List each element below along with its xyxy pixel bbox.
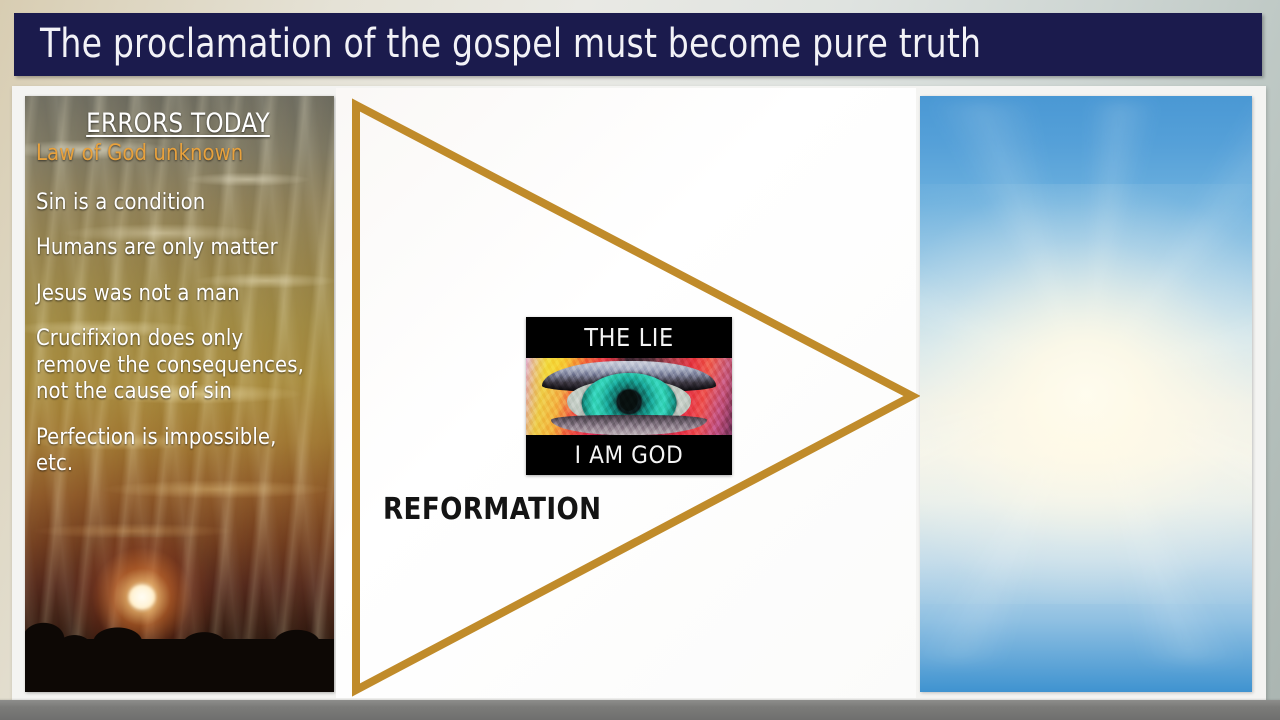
bright-sky-panel: [920, 96, 1252, 692]
reformation-label: REFORMATION: [383, 492, 601, 527]
the-lie-top-caption: THE LIE: [526, 317, 732, 358]
error-item-sin-is-a-condition: Sin is a condition: [36, 189, 311, 216]
error-item-jesus-was-not-a-man: Jesus was not a man: [36, 280, 311, 307]
radiant-light-glow: [920, 184, 1252, 604]
error-item-law-of-god-unknown: Law of God unknown: [36, 140, 311, 167]
page-title: The proclamation of the gospel must beco…: [40, 21, 981, 67]
errors-today-heading: ERRORS TODAY: [43, 108, 313, 139]
slide-title-bar: The proclamation of the gospel must beco…: [14, 13, 1262, 76]
eye-pupil: [620, 390, 638, 410]
errors-today-list: ERRORS TODAY Law of God unknown Sin is a…: [25, 96, 334, 692]
low-poly-eye-image: [526, 358, 732, 435]
slide-root: The proclamation of the gospel must beco…: [0, 0, 1280, 720]
error-item-humans-are-only-matter: Humans are only matter: [36, 234, 311, 261]
i-am-god-bottom-caption: I AM GOD: [526, 435, 732, 475]
the-lie-image-card: THE LIE I AM GOD: [526, 317, 732, 475]
error-item-perfection-is-impossible: Perfection is impossible, etc.: [36, 424, 311, 477]
error-item-crucifixion-consequences: Crucifixion does only remove the consequ…: [36, 325, 311, 405]
errors-photo-panel: ERRORS TODAY Law of God unknown Sin is a…: [25, 96, 334, 692]
slide-bottom-strip: [0, 700, 1280, 720]
